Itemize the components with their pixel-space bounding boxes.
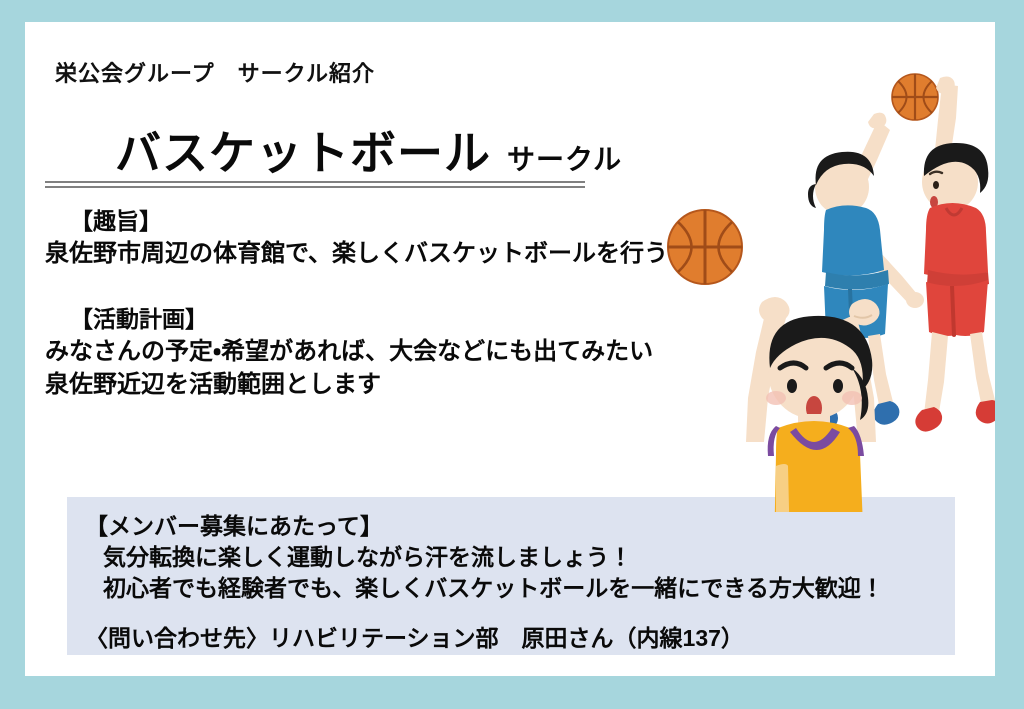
- divider-line-top: [45, 181, 585, 183]
- section-plan-heading: 【活動計画】: [70, 304, 653, 335]
- section-purpose-body: 泉佐野市周辺の体育館で、楽しくバスケットボールを行う: [45, 237, 668, 270]
- divider-line-bottom: [45, 186, 585, 188]
- recruitment-heading: 【メンバー募集にあたって】: [85, 507, 383, 541]
- organization-header: 栄公会グループ サークル紹介: [55, 56, 375, 88]
- basketball-icon-large: [668, 210, 742, 284]
- basketball-player-orange-illustration: [746, 297, 880, 512]
- recruitment-line-1: 気分転換に楽しく運動しながら汗を流しましょう！: [103, 538, 632, 572]
- section-purpose: 【趣旨】 泉佐野市周辺の体育館で、楽しくバスケットボールを行う: [45, 206, 668, 270]
- section-purpose-heading: 【趣旨】: [70, 206, 668, 237]
- title-divider: [45, 181, 585, 188]
- contact-line: 〈問い合わせ先〉リハビリテーション部 原田さん（内線137）: [85, 619, 744, 653]
- recruitment-box: 【メンバー募集にあたって】 気分転換に楽しく運動しながら汗を流しましょう！ 初心…: [67, 497, 955, 655]
- poster-frame: 栄公会グループ サークル紹介 バスケットボール サークル 【趣旨】 泉佐野市周辺…: [0, 0, 1024, 709]
- title-sub-text: サークル: [507, 146, 622, 174]
- section-plan: 【活動計画】 みなさんの予定・希望があれば、大会などにも出てみたい 泉佐野近辺を…: [45, 304, 653, 401]
- page-title: バスケットボール サークル: [115, 130, 622, 176]
- section-plan-body-line-1: みなさんの予定・希望があれば、大会などにも出てみたい: [45, 335, 653, 368]
- recruitment-line-2: 初心者でも経験者でも、楽しくバスケットボールを一緒にできる方大歓迎！: [103, 569, 884, 603]
- poster-card: 栄公会グループ サークル紹介 バスケットボール サークル 【趣旨】 泉佐野市周辺…: [25, 22, 995, 676]
- illustration-group: [630, 42, 995, 512]
- title-main-text: バスケットボール: [115, 130, 491, 176]
- section-plan-body-line-2: 泉佐野近辺を活動範囲とします: [45, 368, 653, 401]
- basketball-player-red-illustration: [915, 77, 995, 432]
- basketball-icon-small: [892, 74, 938, 120]
- basketball-player-blue-illustration: [808, 113, 924, 432]
